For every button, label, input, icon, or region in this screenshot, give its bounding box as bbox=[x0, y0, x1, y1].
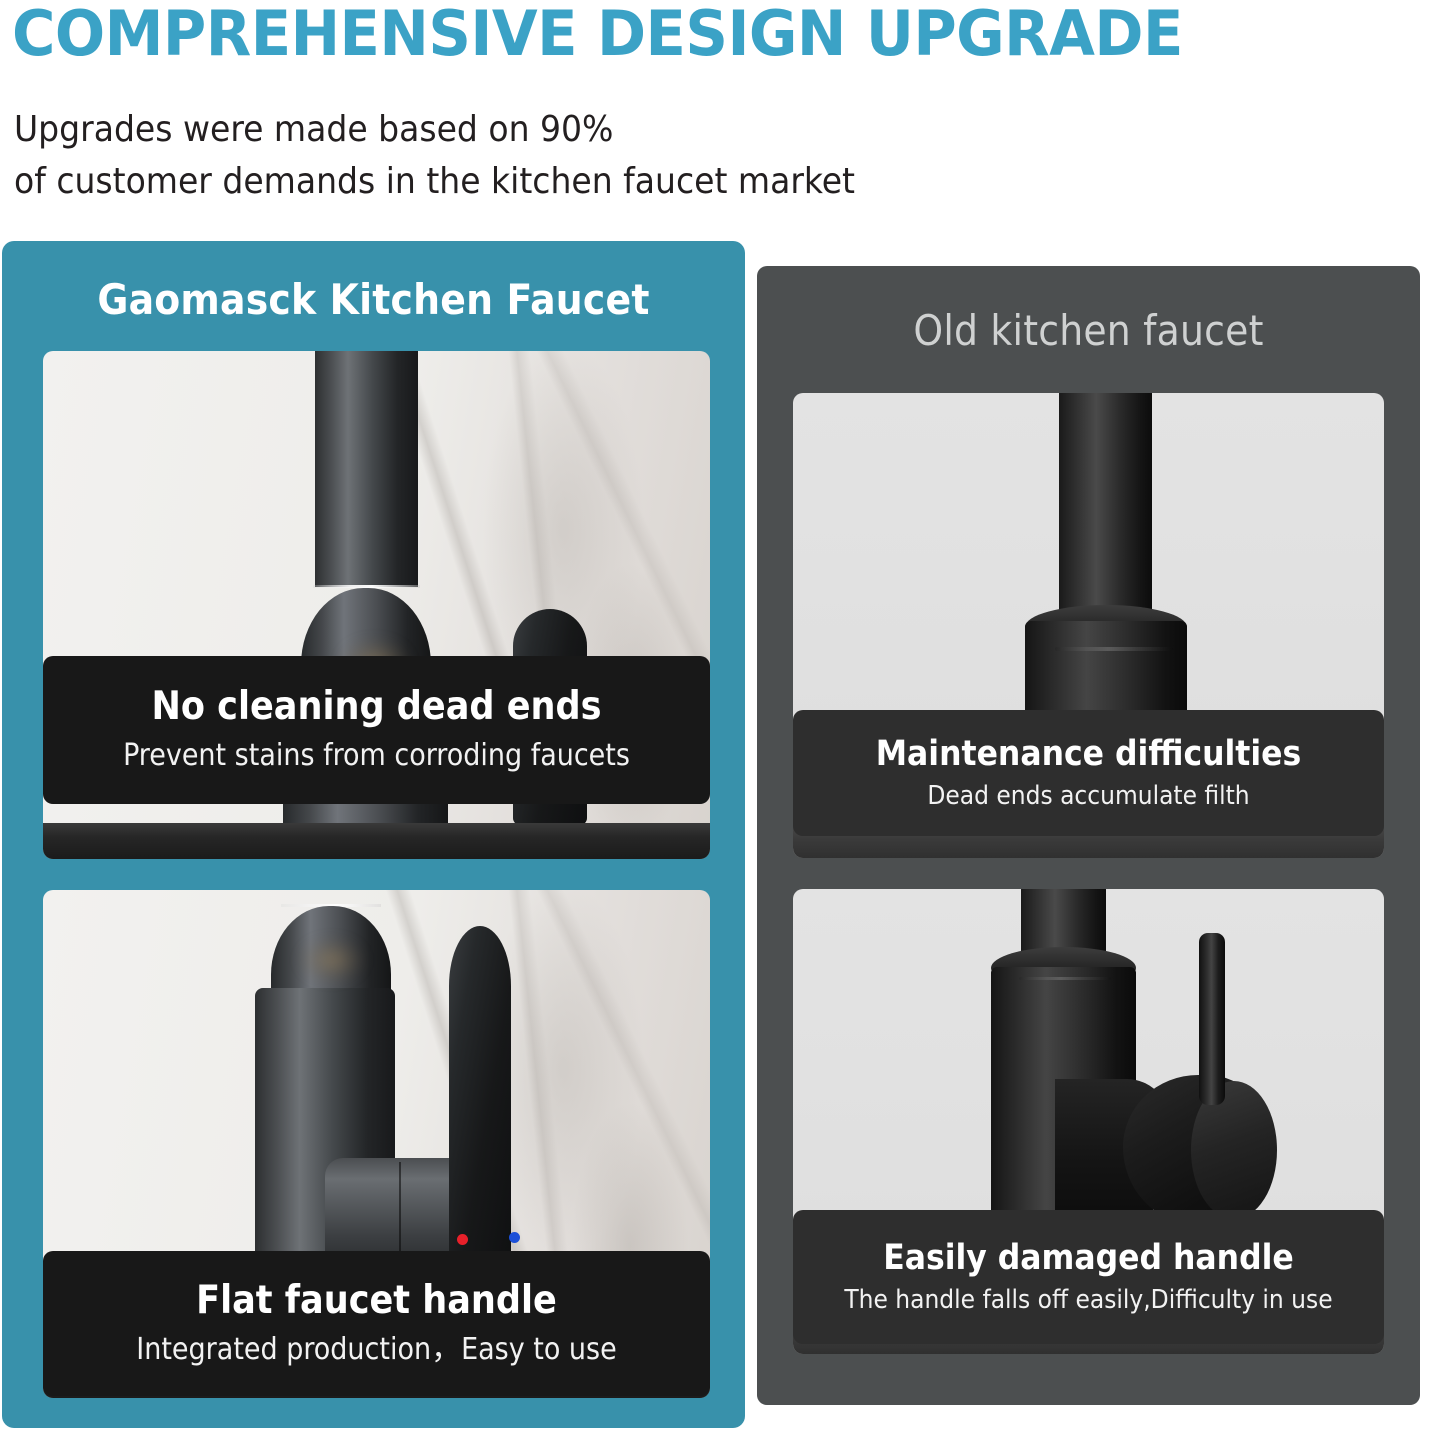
caption-no-cleaning-dead-ends: No cleaning dead ends Prevent stains fro… bbox=[43, 656, 710, 804]
pin-lever-handle-icon bbox=[1199, 933, 1225, 1105]
comparison-panel-gaomasck: Gaomasck Kitchen Faucet No cleaning dead… bbox=[2, 241, 745, 1428]
caption-title: Maintenance difficulties bbox=[876, 732, 1302, 776]
metal-sheen-icon bbox=[299, 938, 365, 982]
caption-flat-faucet-handle: Flat faucet handle Integrated production… bbox=[43, 1251, 710, 1396]
subtitle-line-1: Upgrades were made based on 90% bbox=[14, 104, 1034, 156]
caption-easily-damaged-handle: Easily damaged handle The handle falls o… bbox=[793, 1210, 1384, 1344]
counter-deck-icon bbox=[43, 823, 710, 859]
faucet-column-icon bbox=[315, 351, 418, 587]
page-subtitle: Upgrades were made based on 90% of custo… bbox=[14, 104, 1034, 208]
caption-subtitle: Integrated production，Easy to use bbox=[136, 1329, 616, 1371]
panel-title-gaomasck: Gaomasck Kitchen Faucet bbox=[2, 275, 745, 324]
caption-maintenance-difficulties: Maintenance difficulties Dead ends accum… bbox=[793, 710, 1384, 836]
dead-end-crevice-icon bbox=[1055, 647, 1173, 651]
caption-title: Easily damaged handle bbox=[883, 1236, 1294, 1280]
caption-subtitle: The handle falls off easily,Difficulty i… bbox=[844, 1282, 1332, 1318]
infographic-page: COMPREHENSIVE DESIGN UPGRADE Upgrades we… bbox=[0, 0, 1445, 1431]
hot-indicator-icon bbox=[457, 1234, 468, 1245]
cold-indicator-icon bbox=[509, 1232, 520, 1243]
comparison-panel-old: Old kitchen faucet Maintenance difficult… bbox=[757, 266, 1420, 1405]
panel-title-old: Old kitchen faucet bbox=[757, 306, 1420, 355]
caption-subtitle: Dead ends accumulate filth bbox=[927, 778, 1249, 814]
faucet-column-icon bbox=[1059, 393, 1152, 631]
page-title: COMPREHENSIVE DESIGN UPGRADE bbox=[12, 0, 1445, 70]
body-seam-icon bbox=[1019, 977, 1111, 980]
caption-title: Flat faucet handle bbox=[196, 1277, 557, 1325]
subtitle-line-2: of customer demands in the kitchen fauce… bbox=[14, 156, 1034, 208]
caption-title: No cleaning dead ends bbox=[152, 683, 602, 731]
caption-subtitle: Prevent stains from corroding faucets bbox=[123, 735, 630, 777]
